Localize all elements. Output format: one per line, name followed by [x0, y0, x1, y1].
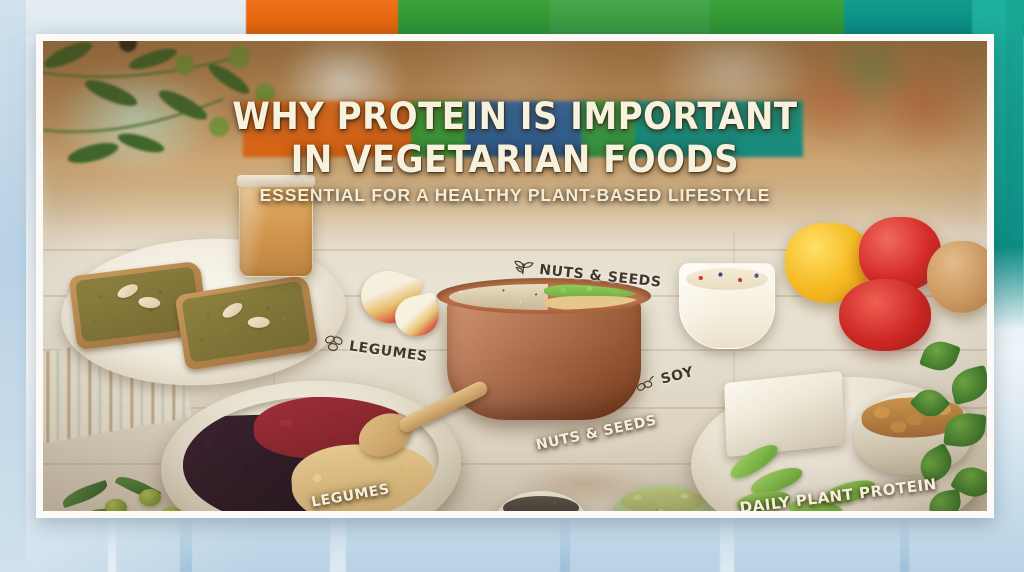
- pot-contents: [449, 284, 639, 310]
- food-photograph: WHY PROTEIN IS IMPORTANT IN VEGETARIAN F…: [43, 41, 987, 511]
- page-title: WHY PROTEIN IS IMPORTANT IN VEGETARIAN F…: [43, 95, 987, 181]
- paint-stroke-band-top: [0, 0, 1024, 34]
- paint-stroke-left: [0, 0, 26, 572]
- quinoa-portion: [449, 284, 548, 310]
- yogurt-parfait-glass: [679, 263, 775, 349]
- page-subtitle: ESSENTIAL FOR A HEALTHY PLANT-BASED LIFE…: [43, 185, 987, 206]
- headline-line-1: WHY PROTEIN IS IMPORTANT: [43, 95, 987, 138]
- leaf-sprig-icon: [513, 259, 535, 277]
- red-bell-pepper-2: [839, 279, 931, 351]
- headline-line-2: IN VEGETARIAN FOODS: [43, 138, 987, 181]
- chickpea-portion: [544, 296, 639, 310]
- tofu-block: [724, 371, 844, 457]
- onion: [927, 241, 987, 313]
- bean-pods-icon: [322, 334, 344, 354]
- poster-root: WHY PROTEIN IS IMPORTANT IN VEGETARIAN F…: [0, 0, 1024, 572]
- photo-frame: WHY PROTEIN IS IMPORTANT IN VEGETARIAN F…: [36, 34, 994, 518]
